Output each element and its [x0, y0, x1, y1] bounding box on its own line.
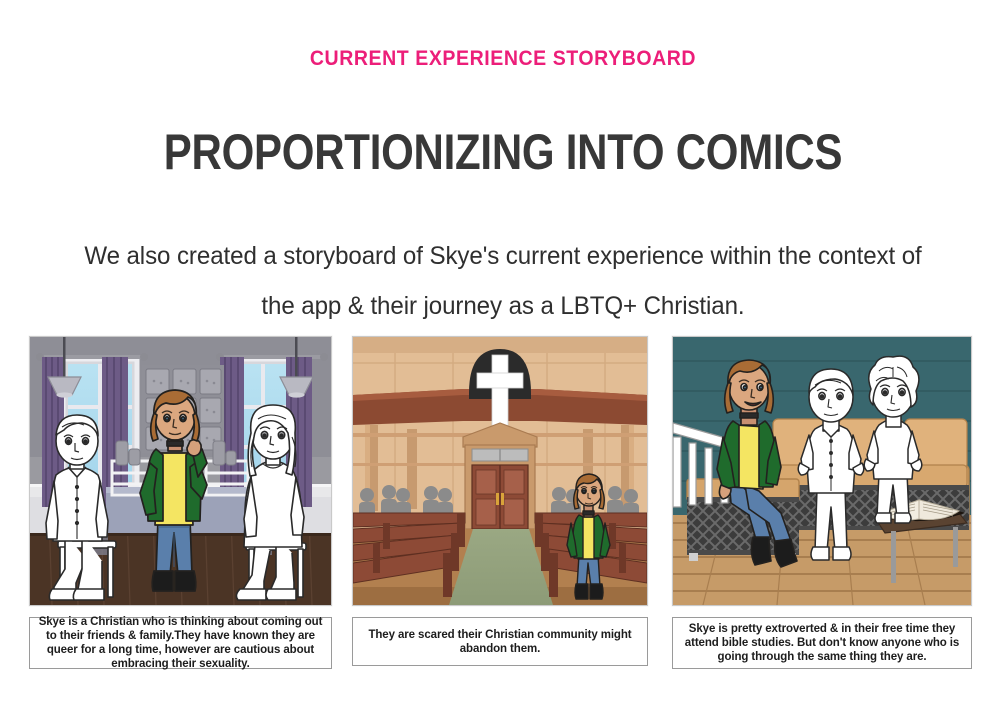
comic-illustration-living-room [29, 336, 332, 606]
panel-caption: They are scared their Christian communit… [352, 617, 648, 666]
storyboard-slide: CURRENT EXPERIENCE STORYBOARD PROPORTION… [0, 0, 1006, 707]
storyboard-panel-row: Skye is a Christian who is thinking abou… [0, 0, 1006, 707]
panel-caption: Skye is a Christian who is thinking abou… [29, 617, 332, 669]
comic-illustration-church [352, 336, 648, 606]
comic-illustration-bible-study [672, 336, 972, 606]
panel-caption: Skye is pretty extroverted & in their fr… [672, 617, 972, 669]
